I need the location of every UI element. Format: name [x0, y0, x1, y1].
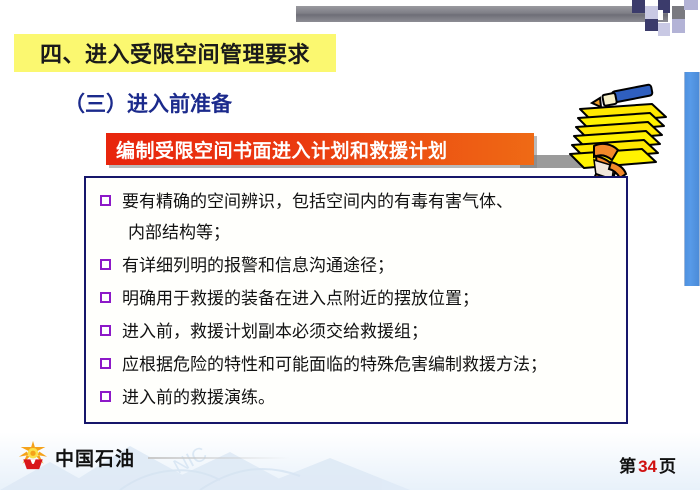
top-gray-bar	[296, 6, 668, 22]
checker-square-lavender-1	[645, 6, 658, 19]
bullet-list: 要有精确的空间辨识，包括空间内的有毒有害气体、 内部结构等； 有详细列明的报警和…	[86, 186, 626, 413]
banner-text: 编制受限空间书面进入计划和救援计划	[116, 136, 448, 163]
list-item: 进入前的救援演练。	[86, 382, 626, 413]
bullet-line-2: 内部结构等；	[122, 217, 513, 248]
checker-square-lavender-2	[684, 0, 698, 10]
list-item: 要有精确的空间辨识，包括空间内的有毒有害气体、 内部结构等；	[86, 186, 626, 248]
page-number: 第34页	[619, 452, 676, 477]
square-bullet-icon	[100, 292, 111, 303]
bullet-text: 应根据危险的特性和可能面临的特殊危害编制救援方法；	[122, 349, 547, 380]
list-item: 明确用于救援的装备在进入点附近的摆放位置；	[86, 283, 626, 314]
content-box: 要有精确的空间辨识，包括空间内的有毒有害气体、 内部结构等； 有详细列明的报警和…	[84, 176, 628, 424]
page-subtitle: （三）进入前准备	[64, 88, 232, 118]
square-bullet-icon	[100, 195, 111, 206]
checker-square-navy-3	[645, 19, 658, 31]
list-item: 进入前，救援计划副本必须交给救援组；	[86, 316, 626, 347]
petrochina-logo-icon	[18, 440, 48, 475]
checker-square-lavender-3	[658, 23, 670, 36]
page-prefix: 第	[619, 457, 636, 476]
bullet-text: 进入前，救援计划副本必须交给救援组；	[122, 316, 428, 347]
page-title-box: 四、进入受限空间管理要求	[14, 34, 336, 72]
square-bullet-icon	[100, 325, 111, 336]
bullet-text: 要有精确的空间辨识，包括空间内的有毒有害气体、 内部结构等；	[122, 186, 513, 248]
bullet-text: 有详细列明的报警和信息沟通途径；	[122, 250, 394, 281]
slide-canvas: 四、进入受限空间管理要求 （三）进入前准备 编制受限空间书面进入计划和救援计划	[0, 0, 700, 490]
square-bullet-icon	[100, 358, 111, 369]
right-blue-bar	[684, 72, 700, 286]
petrochina-logo-wrap: 中国石油	[18, 440, 135, 475]
checker-gap	[658, 10, 663, 20]
bullet-line-1: 要有精确的空间辨识，包括空间内的有毒有害气体、	[122, 192, 513, 211]
footer-divider-line	[148, 457, 290, 459]
checker-square-lavender-4	[672, 19, 685, 33]
page-title: 四、进入受限空间管理要求	[40, 37, 310, 69]
banner-highlight: 编制受限空间书面进入计划和救援计划	[106, 133, 534, 165]
page-suffix: 页	[659, 457, 676, 476]
list-item: 应根据危险的特性和可能面临的特殊危害编制救援方法；	[86, 349, 626, 380]
page-number-value: 34	[636, 457, 659, 476]
list-item: 有详细列明的报警和信息沟通途径；	[86, 250, 626, 281]
bullet-text: 进入前的救援演练。	[122, 382, 275, 413]
square-bullet-icon	[100, 391, 111, 402]
checker-square-navy-1	[632, 0, 645, 13]
company-name: 中国石油	[55, 444, 135, 471]
bullet-text: 明确用于救援的装备在进入点附近的摆放位置；	[122, 283, 479, 314]
square-bullet-icon	[100, 259, 111, 270]
